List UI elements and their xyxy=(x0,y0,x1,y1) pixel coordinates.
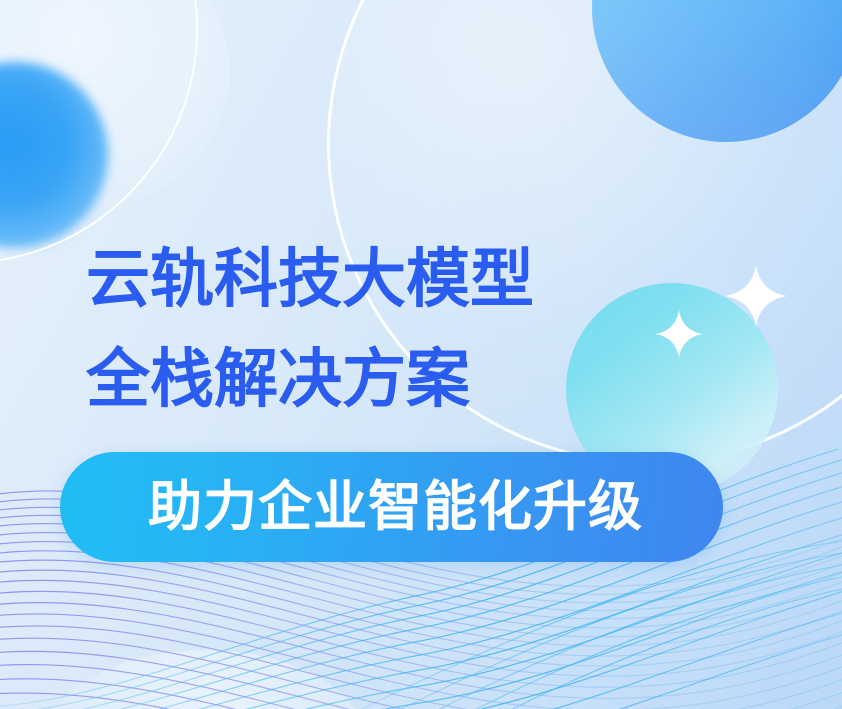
page-title: 云轨科技大模型 全栈解决方案 xyxy=(86,229,534,429)
cta-button-label: 助力企业智能化升级 xyxy=(148,480,643,534)
promo-poster: 云轨科技大模型 全栈解决方案 助力企业智能化升级 xyxy=(0,0,842,709)
headline-line-1: 云轨科技大模型 xyxy=(86,229,534,329)
headline-line-2: 全栈解决方案 xyxy=(86,329,534,429)
cta-button[interactable]: 助力企业智能化升级 xyxy=(60,452,723,562)
poster-content: 云轨科技大模型 全栈解决方案 助力企业智能化升级 xyxy=(0,0,842,709)
